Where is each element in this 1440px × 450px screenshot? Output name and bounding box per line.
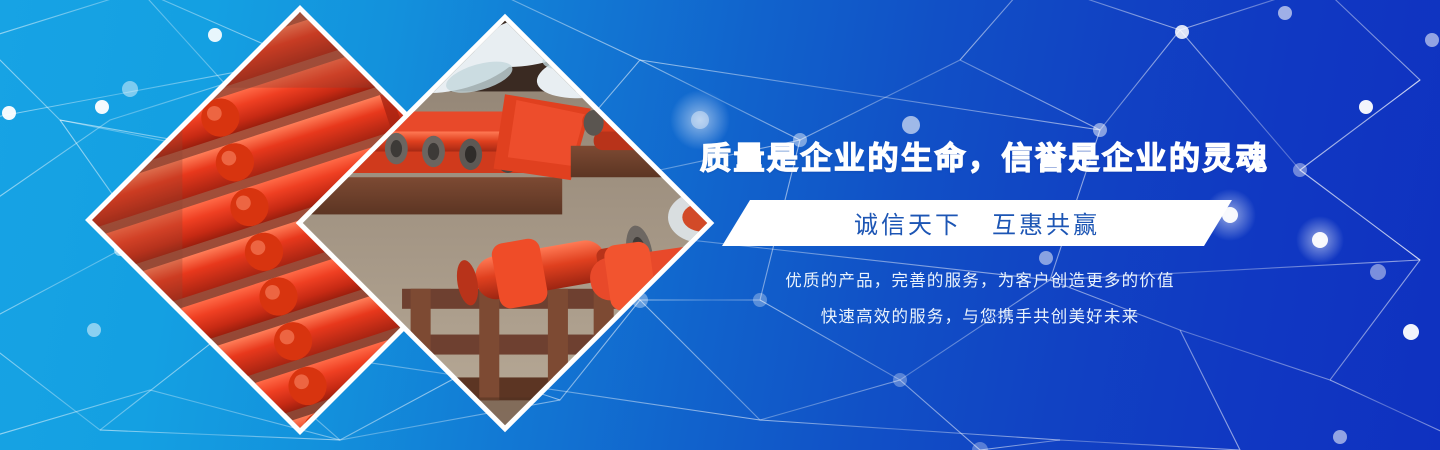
slogan-ribbon: 诚信天下 互惠共赢 — [722, 200, 1232, 246]
slogan-left: 诚信天下 — [854, 205, 962, 240]
slogan-ribbon-text: 诚信天下 互惠共赢 — [722, 200, 1232, 246]
headline-text: 质量是企业的生命，信誉是企业的灵魂 — [700, 133, 1260, 178]
promo-banner: 质量是企业的生命，信誉是企业的灵魂 诚信天下 互惠共赢 优质的产品，完善的服务，… — [0, 0, 1440, 450]
slogan-right: 互惠共赢 — [992, 205, 1100, 240]
subline-1: 优质的产品，完善的服务，为客户创造更多的价值 — [700, 267, 1260, 291]
subline-2: 快速高效的服务，与您携手共创美好未来 — [700, 303, 1260, 327]
